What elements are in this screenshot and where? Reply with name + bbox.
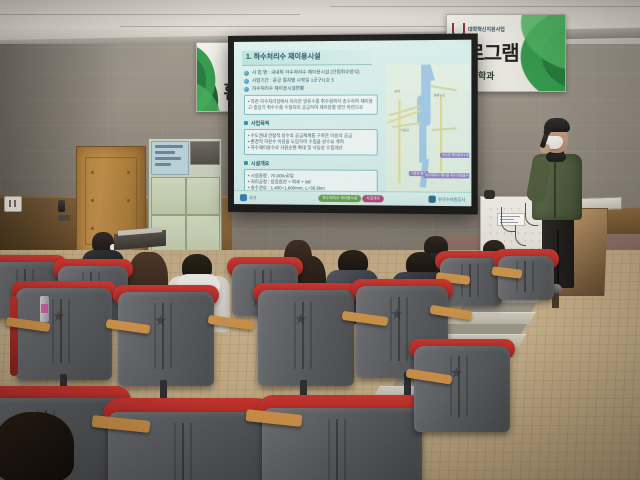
slide-callout-line: 고·중장기 취수수를 수질처리 공급하여 재이용할 방안 마련으로 bbox=[248, 105, 374, 111]
door-knob[interactable] bbox=[58, 200, 65, 212]
slide-callout-box: • 하천 하수처리장에서 처리한 방류수를 취수원까지 송수하여 재이용 고·중… bbox=[244, 94, 378, 114]
water-bottle-seat[interactable] bbox=[40, 296, 49, 322]
slide-bullet: 하수처리수 재이용시설현황 bbox=[244, 85, 378, 92]
map-pin: 취수장 재이용정수장 bbox=[440, 153, 469, 159]
slide-bullets: 사 업 명 : 국내외 하수처리수 재이용시설 (간접취수방식) 사업기간 : … bbox=[244, 69, 378, 196]
auditorium-seat[interactable] bbox=[498, 256, 554, 300]
map-label: 유역 bbox=[394, 89, 400, 93]
power-outlet-icon bbox=[4, 196, 22, 212]
auditorium-seat[interactable] bbox=[118, 292, 214, 386]
door-lock[interactable] bbox=[58, 215, 70, 221]
seat-back bbox=[414, 346, 510, 432]
section-line: • 하수재이용수로 자원순환 확대 및 낙동강 수질개선 bbox=[248, 145, 374, 151]
audience-person-foreground bbox=[0, 412, 80, 480]
footer-left-text: 국가 bbox=[249, 195, 256, 201]
cabinet-sign bbox=[151, 141, 189, 175]
section-marker-icon bbox=[244, 161, 248, 165]
map-label: 본류구간 bbox=[434, 93, 446, 97]
slide-bullet-text: 사업기간 : 준공 절차별 시작일 1공구/1호 5 bbox=[252, 77, 334, 83]
bottle-label bbox=[41, 304, 48, 313]
footer-right-text: 한국수자원공사 bbox=[438, 196, 465, 202]
slide-bullet: 사업기간 : 준공 절차별 시작일 1공구/1호 5 bbox=[244, 77, 378, 84]
slide-bullet-text: 하수처리수 재이용시설현황 bbox=[252, 86, 304, 92]
bullet-dot-icon bbox=[244, 87, 249, 92]
org-logo-icon bbox=[240, 194, 247, 201]
slide-footer: 국가 하수처리수 재이용시설 사업개요 한국수자원공사 bbox=[234, 190, 471, 206]
bullet-dot-icon bbox=[244, 71, 249, 76]
bullet-dot-icon bbox=[244, 79, 249, 84]
map-label: 낙동강 bbox=[400, 128, 409, 132]
projection-screen: 1. 하수처리수 재이용시설 사 업 명 : 국내외 하수처리수 재이용시설 (… bbox=[234, 40, 471, 207]
section-heading-text: 사업목적 bbox=[251, 120, 269, 127]
whiteboard-knob-icon bbox=[484, 190, 495, 199]
slide-section-box: • 수도권내 안정적 용수의 공급체계를 구축한 이용의 공급 • 환경적 하천… bbox=[244, 129, 378, 155]
banner-logo-text: 대학혁신지원사업 bbox=[468, 26, 505, 33]
slide-footer-right: 한국수자원공사 bbox=[429, 196, 465, 203]
slide-section-heading: 시설개요 bbox=[244, 160, 378, 168]
cabinet-window bbox=[190, 141, 220, 165]
seat-side bbox=[10, 296, 18, 376]
projection-screen-frame: 1. 하수처리수 재이용시설 사 업 명 : 국내외 하수처리수 재이용시설 (… bbox=[228, 33, 478, 214]
auditorium-seat[interactable] bbox=[414, 346, 510, 432]
seat-back bbox=[498, 256, 554, 300]
slide-title: 1. 하수처리수 재이용시설 bbox=[242, 50, 372, 66]
slide-bullet-text: 사 업 명 : 국내외 하수처리수 재이용시설 (간접취수방식) bbox=[252, 69, 360, 75]
seat-back bbox=[118, 292, 214, 386]
slide-map: 낙동강 본류구간 유역 취수장 재이용정수장 가압장 펌프 하수처리수 재이용 … bbox=[386, 64, 469, 200]
slide-footer-pills: 하수처리수 재이용시설 사업개요 bbox=[318, 195, 384, 203]
slide-section-heading: 사업목적 bbox=[244, 120, 378, 127]
slide-footer-left: 국가 bbox=[240, 194, 256, 201]
footer-pill-left: 하수처리수 재이용시설 bbox=[318, 195, 361, 202]
lecture-hall-photo: 환 대학혁신지원사업 프로그램 환경공학과 1. 하수처리수 재이용시설 사 업… bbox=[0, 0, 640, 480]
section-marker-icon bbox=[244, 121, 248, 125]
footer-pill-right: 사업개요 bbox=[362, 195, 384, 202]
seat-back bbox=[258, 290, 354, 386]
section-heading-text: 시설개요 bbox=[251, 160, 269, 167]
auditorium-seat[interactable] bbox=[258, 290, 354, 386]
auditorium-seat[interactable] bbox=[16, 288, 112, 380]
agency-logo-icon bbox=[429, 196, 436, 203]
seat-back bbox=[16, 288, 112, 380]
map-pin: 하수처리수 재이용 취수시설(송수시설) bbox=[423, 173, 469, 179]
slide-bullet: 사 업 명 : 국내외 하수처리수 재이용시설 (간접취수방식) bbox=[244, 69, 378, 76]
